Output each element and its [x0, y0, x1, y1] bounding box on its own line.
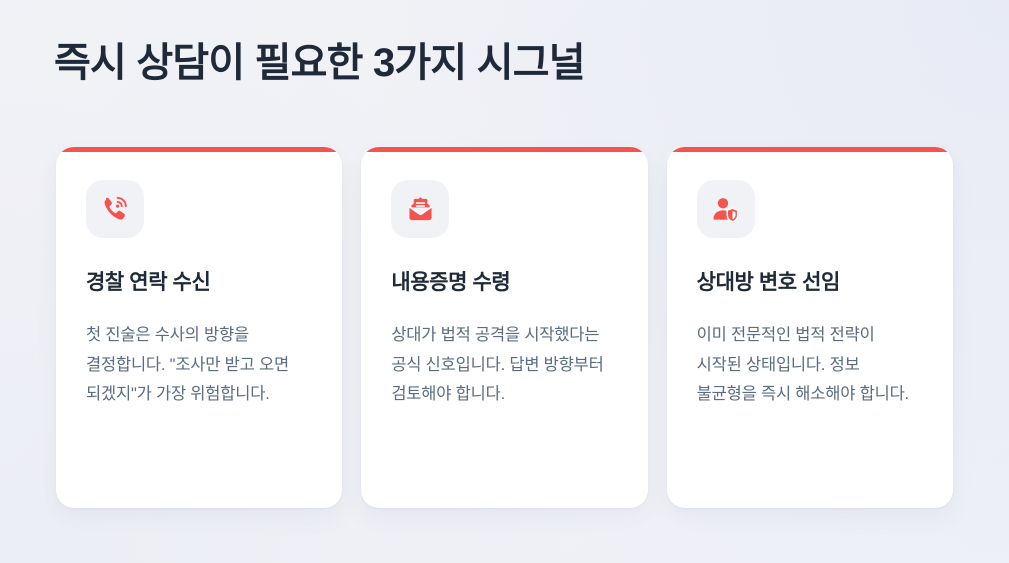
card-top-accent-bar: [667, 147, 953, 152]
signals-section: 즉시 상담이 필요한 3가지 시그널 경찰 연락 수신 첫 진술은 수사의 방향…: [0, 0, 1009, 563]
card-description: 이미 전문적인 법적 전략이 시작된 상태입니다. 정보 불균형을 즉시 해소해…: [697, 321, 923, 409]
card-top-accent-bar: [361, 147, 647, 152]
page-title: 즉시 상담이 필요한 3가지 시그널: [54, 38, 585, 88]
icon-container: [697, 180, 755, 238]
card-description: 첫 진술은 수사의 방향을 결정합니다. "조사만 받고 오면 되겠지"가 가장…: [86, 321, 312, 409]
card-title: 내용증명 수령: [391, 269, 617, 296]
card-title: 상대방 변호 선임: [697, 269, 923, 296]
card-title: 경찰 연락 수신: [86, 269, 312, 296]
signal-cards-list: 경찰 연락 수신 첫 진술은 수사의 방향을 결정합니다. "조사만 받고 오면…: [56, 147, 953, 508]
icon-container: [391, 180, 449, 238]
card-top-accent-bar: [56, 147, 342, 152]
icon-container: [86, 180, 144, 238]
open-envelope-document-icon: [405, 194, 436, 225]
user-shield-icon: [710, 194, 741, 225]
signal-card-police-contact[interactable]: 경찰 연락 수신 첫 진술은 수사의 방향을 결정합니다. "조사만 받고 오면…: [56, 147, 342, 508]
signal-card-opposing-counsel[interactable]: 상대방 변호 선임 이미 전문적인 법적 전략이 시작된 상태입니다. 정보 불…: [667, 147, 953, 508]
signal-card-certified-mail[interactable]: 내용증명 수령 상대가 법적 공격을 시작했다는 공식 신호입니다. 답변 방향…: [361, 147, 647, 508]
phone-ringing-icon: [100, 194, 130, 224]
card-description: 상대가 법적 공격을 시작했다는 공식 신호입니다. 답변 방향부터 검토해야 …: [391, 321, 617, 409]
